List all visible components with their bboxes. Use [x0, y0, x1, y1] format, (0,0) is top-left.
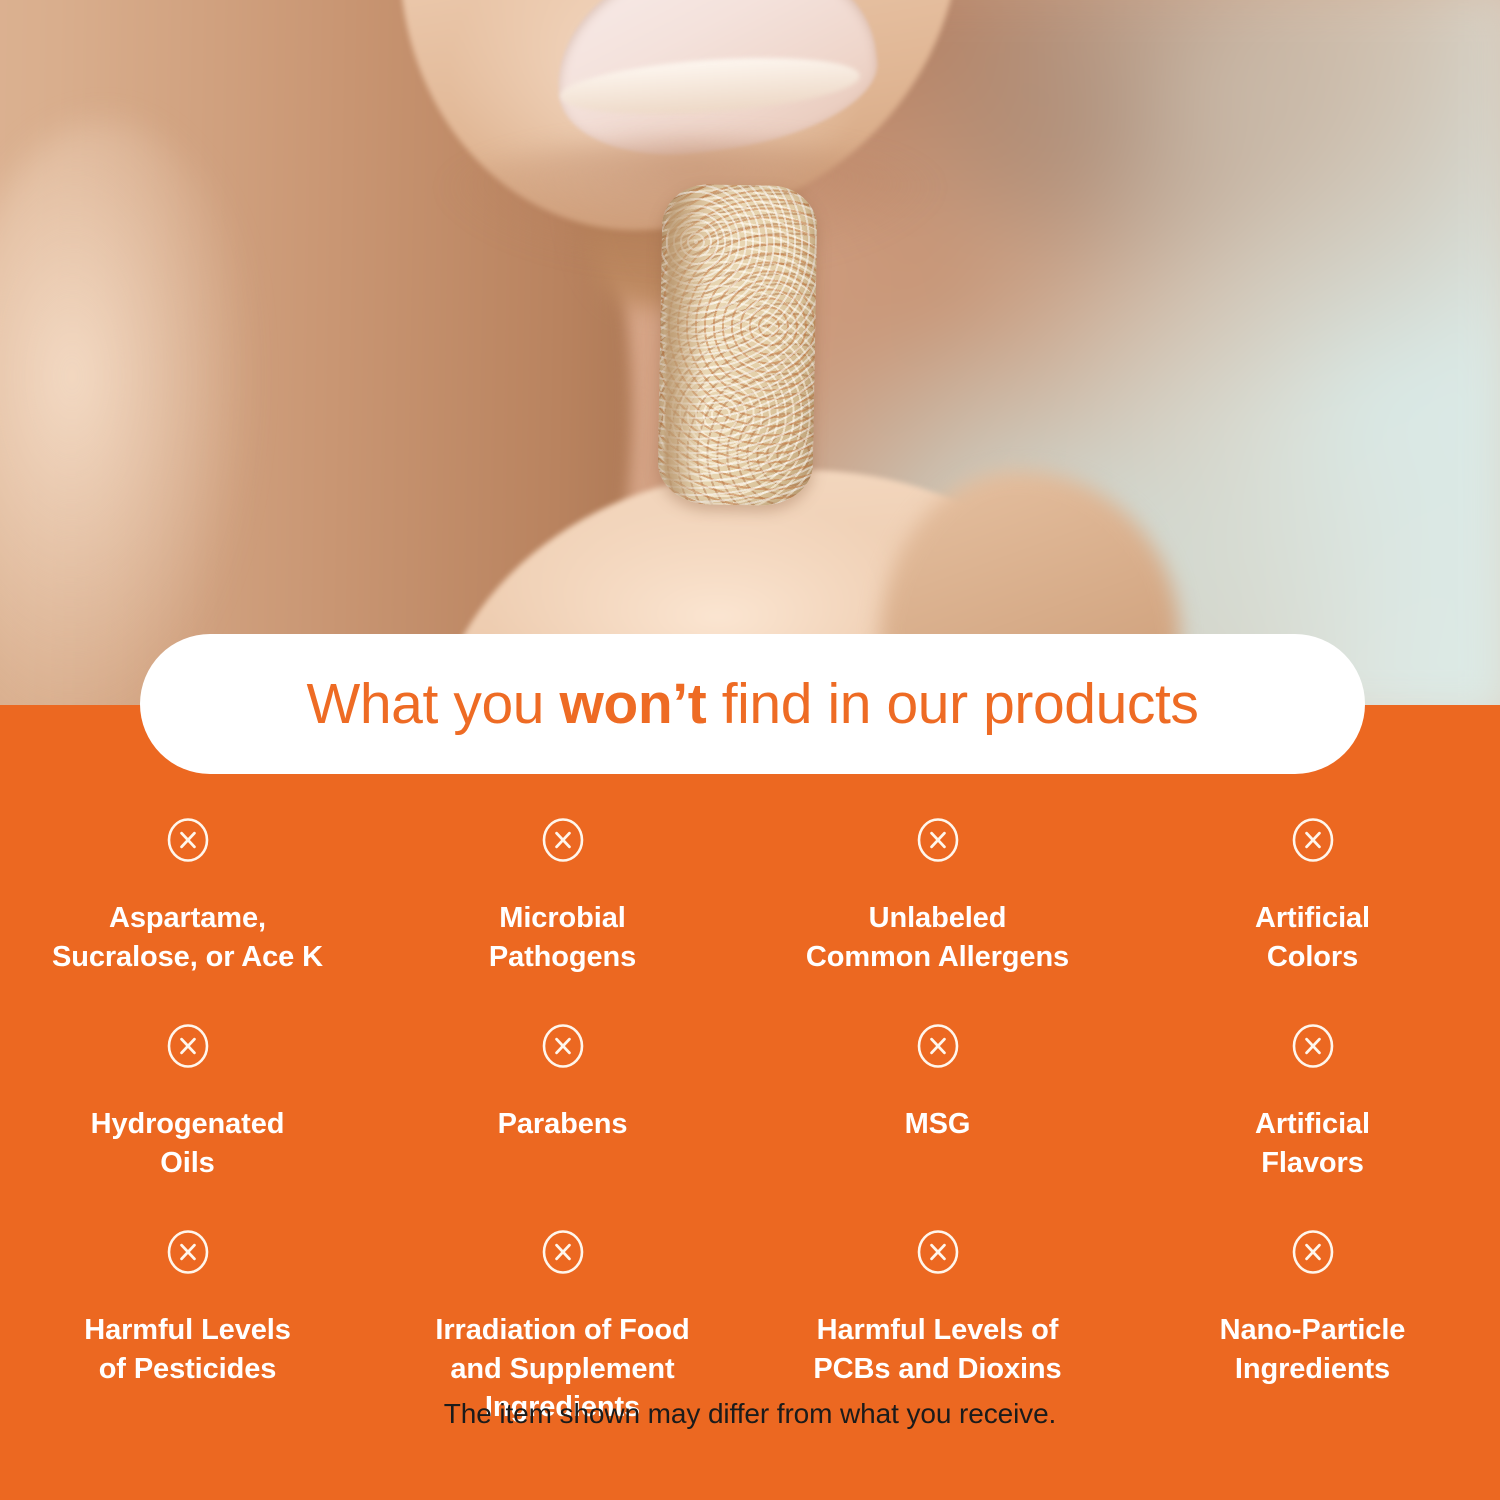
x-circle-icon: [916, 818, 960, 862]
excluded-ingredient-item: Unlabeled Common Allergens: [750, 818, 1125, 976]
excluded-ingredient-label: Harmful Levels of Pesticides: [84, 1311, 291, 1388]
excluded-ingredient-label: Nano-Particle Ingredients: [1220, 1311, 1406, 1388]
excluded-ingredient-label: Harmful Levels of PCBs and Dioxins: [813, 1311, 1061, 1388]
x-circle-icon: [541, 1024, 585, 1068]
headline-pill: What you won’t find in our products: [140, 634, 1365, 774]
excluded-ingredient-label: Unlabeled Common Allergens: [806, 899, 1069, 976]
excluded-ingredient-item: Microbial Pathogens: [375, 818, 750, 976]
excluded-ingredients-grid: Aspartame, Sucralose, or Ace K Microbial…: [0, 818, 1500, 1427]
x-circle-icon: [916, 1024, 960, 1068]
excluded-ingredient-label: Hydrogenated Oils: [91, 1105, 285, 1182]
excluded-ingredient-item: Artificial Colors: [1125, 818, 1500, 976]
x-circle-icon: [916, 1230, 960, 1274]
x-circle-icon: [166, 818, 210, 862]
excluded-ingredient-label: MSG: [905, 1105, 971, 1144]
supplement-tablet-edge: [663, 196, 706, 495]
excluded-ingredient-label: Aspartame, Sucralose, or Ace K: [52, 899, 323, 976]
excluded-ingredient-label: Artificial Flavors: [1255, 1105, 1370, 1182]
x-circle-icon: [541, 1230, 585, 1274]
page-title-emphasis: won’t: [560, 672, 707, 736]
x-circle-icon: [166, 1024, 210, 1068]
page-title: What you won’t find in our products: [306, 676, 1198, 733]
excluded-ingredient-label: Artificial Colors: [1255, 899, 1370, 976]
excluded-ingredient-item: Parabens: [375, 1024, 750, 1182]
excluded-ingredient-item: Hydrogenated Oils: [0, 1024, 375, 1182]
x-circle-icon: [1291, 818, 1335, 862]
x-circle-icon: [1291, 1230, 1335, 1274]
disclaimer-text: The item shown may differ from what you …: [0, 1398, 1500, 1430]
excluded-ingredient-label: Microbial Pathogens: [489, 899, 636, 976]
excluded-ingredient-item: Artificial Flavors: [1125, 1024, 1500, 1182]
product-photo: [0, 0, 1500, 712]
x-circle-icon: [166, 1230, 210, 1274]
excluded-ingredient-label: Parabens: [498, 1105, 628, 1144]
page-title-suffix: find in our products: [706, 672, 1198, 736]
excluded-ingredient-item: Aspartame, Sucralose, or Ace K: [0, 818, 375, 976]
x-circle-icon: [541, 818, 585, 862]
excluded-ingredient-item: MSG: [750, 1024, 1125, 1182]
page-title-prefix: What you: [306, 672, 559, 736]
x-circle-icon: [1291, 1024, 1335, 1068]
